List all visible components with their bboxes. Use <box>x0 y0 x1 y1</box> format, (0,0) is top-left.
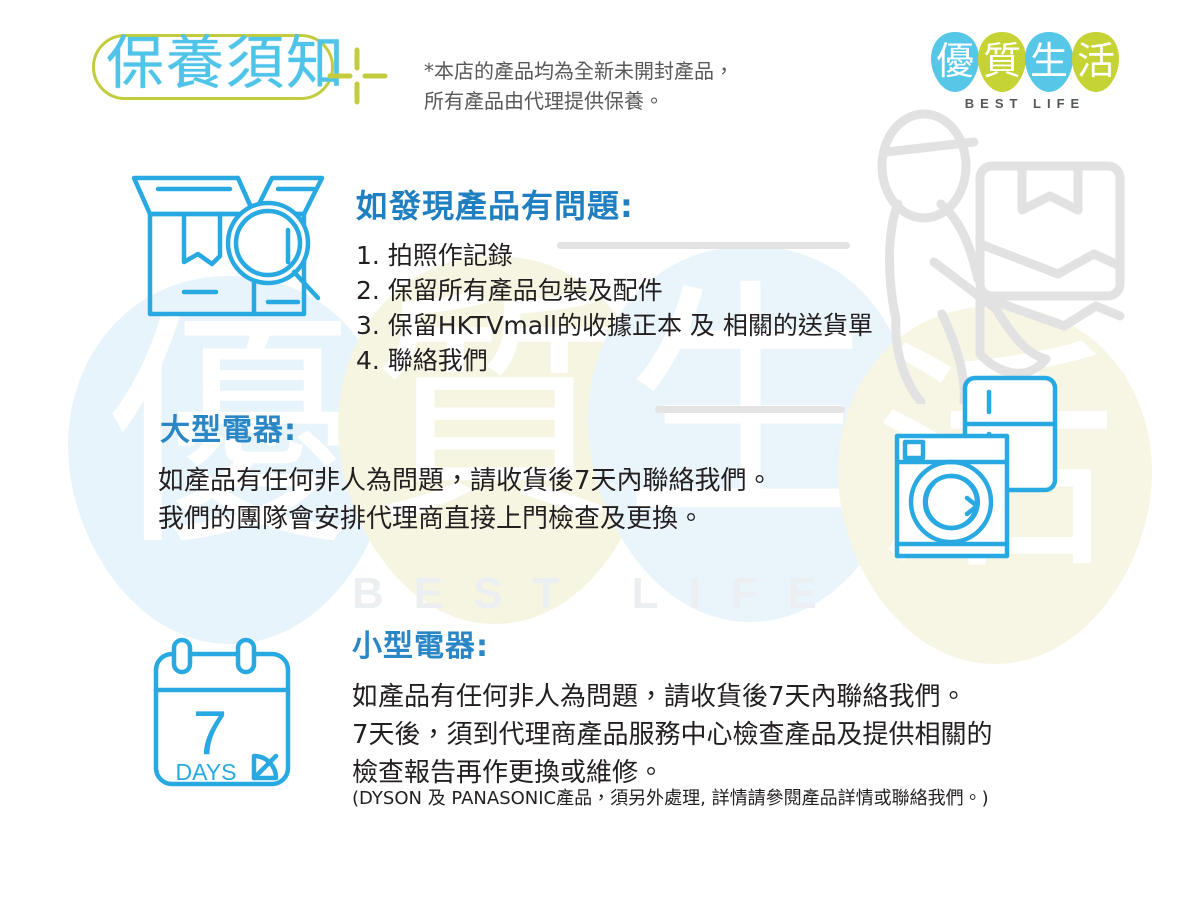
logo-subtitle: BEST LIFE <box>930 96 1120 111</box>
problem-steps-list: 1. 拍照作記錄 2. 保留所有產品包裝及配件 3. 保留HKTVmall的收據… <box>356 238 873 378</box>
sparkle-plus-icon <box>324 46 390 113</box>
svg-text:生: 生 <box>1030 39 1068 83</box>
page-title: 保養須知 <box>106 24 346 102</box>
calendar-number: 7 <box>193 699 227 768</box>
heading-large-appliance: 大型電器: <box>160 405 297 449</box>
header-note-text: *本店的產品均為全新未開封產品， 所有產品由代理提供保養。 <box>424 56 734 116</box>
delivery-person-with-box-icon <box>846 104 1136 409</box>
divider-large-appliance <box>655 406 845 413</box>
svg-text:活: 活 <box>1077 39 1115 83</box>
poster-root: 優 質 生 活 BEST LIFE <box>0 0 1200 900</box>
logo-blob-shapes: 優 質 生 活 <box>930 30 1120 105</box>
box-with-magnifier-icon <box>126 170 326 325</box>
body-large-appliance: 如產品有任何非人為問題，請收貨後7天內聯絡我們。 我們的團隊會安排代理商直接上門… <box>158 462 773 538</box>
watermark-blob-you: 優 <box>60 270 400 650</box>
calendar-7-days-icon: 7 DAYS <box>148 636 298 796</box>
list-item: 2. 保留所有產品包裝及配件 <box>356 273 873 308</box>
heading-problem: 如發現產品有問題: <box>356 181 634 227</box>
list-item: 4. 聯絡我們 <box>356 343 873 378</box>
svg-text:質: 質 <box>983 39 1021 83</box>
note-small-appliance: (DYSON 及 PANASONIC產品，須另外處理, 詳情請參閱產品詳情或聯絡… <box>352 787 989 811</box>
calendar-label: DAYS <box>176 759 237 785</box>
svg-text:優: 優 <box>936 39 974 83</box>
page-title-group: 保養須知 <box>92 28 362 106</box>
brand-logo: 優 質 生 活 BEST LIFE <box>930 30 1120 125</box>
list-item: 3. 保留HKTVmall的收據正本 及 相關的送貨單 <box>356 308 873 343</box>
fridge-and-washing-machine-icon <box>885 368 1075 573</box>
body-small-appliance: 如產品有任何非人為問題，請收貨後7天內聯絡我們。 7天後，須到代理商產品服務中心… <box>352 678 993 792</box>
list-item: 1. 拍照作記錄 <box>356 238 873 273</box>
watermark-best-life-text: BEST LIFE <box>352 569 847 619</box>
heading-small-appliance: 小型電器: <box>352 621 489 665</box>
